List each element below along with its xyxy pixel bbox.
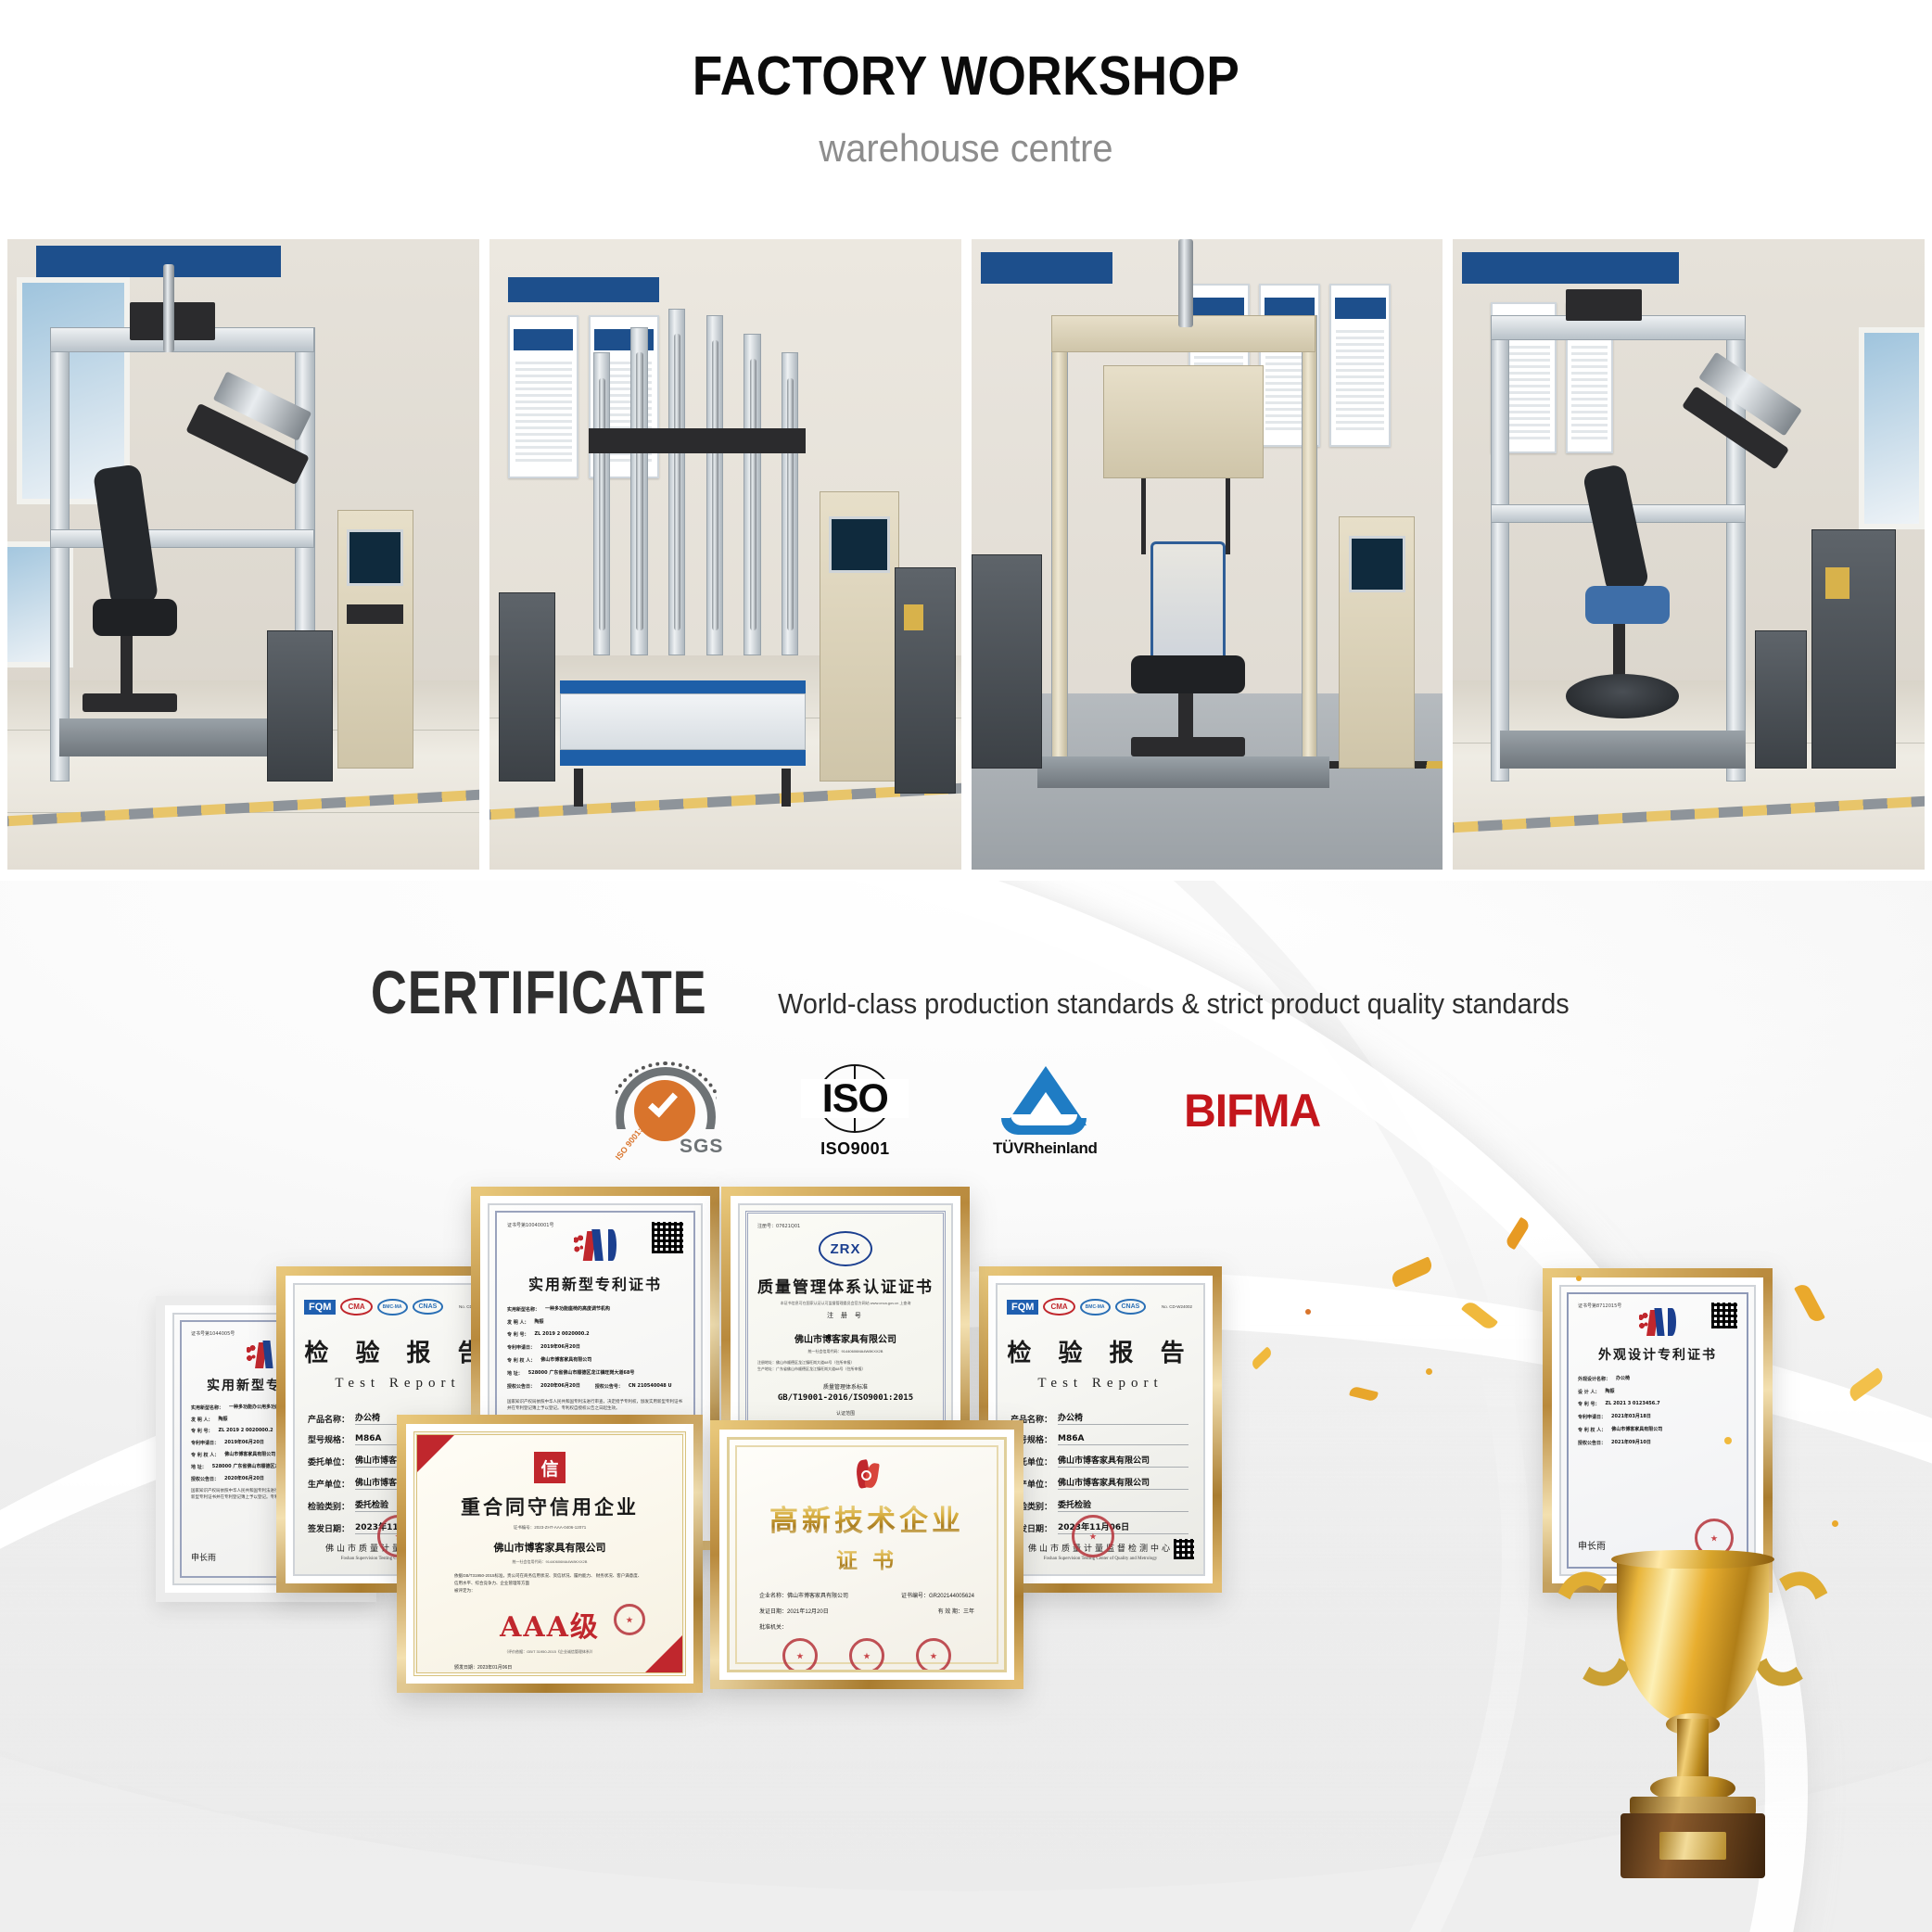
workshop-heading: FACTORY WORKSHOP warehouse centre (0, 0, 1932, 171)
field-label: 颁发日期： (454, 1665, 477, 1671)
field-value: 2020年06月20日 (540, 1382, 580, 1390)
certificate-subtitle: World-class production standards & stric… (778, 987, 1570, 1021)
field-value: 委托检验 (1058, 1498, 1188, 1512)
field-value: 佛山市博客家具有限公司 (1611, 1426, 1737, 1433)
zrx-logo: ZRX (819, 1231, 872, 1266)
page-title: FACTORY WORKSHOP (96, 44, 1836, 108)
field-value: 2023年01月06日 (477, 1665, 512, 1671)
field-label: 产品名称： (308, 1413, 350, 1425)
field-label: 型号规格： (308, 1433, 350, 1445)
confetti-ribbon (1847, 1367, 1887, 1402)
field-value: 三年 (963, 1609, 974, 1615)
field-label: 授权公告日： (191, 1476, 219, 1482)
issuer-en: Foshan Supervision Testing Center of Qua… (998, 1557, 1203, 1561)
official-stamp: ★ (782, 1638, 818, 1672)
cma-badge: CMA (1043, 1298, 1074, 1316)
field-label: 截止日期： (454, 1674, 477, 1676)
field-label: 授权公告日： (507, 1383, 535, 1390)
field-value: 2021年09月10日 (1611, 1439, 1737, 1446)
field-label: 实用新型名称： (507, 1306, 540, 1313)
field-label: 专利申请日： (1578, 1414, 1606, 1420)
confetti-ribbon (1461, 1299, 1498, 1332)
field-label: 专 利 号： (507, 1331, 528, 1338)
cma-badge: CMA (340, 1298, 372, 1316)
certificate-wall: 证书号第1044005号 实用新型专利证书 实用新型名称：一种多功能办公用多功能… (0, 1187, 1932, 1932)
hte-flame-logo (851, 1460, 883, 1490)
field-label: 专 利 权 人： (1578, 1427, 1606, 1433)
signature: 申长雨 (191, 1551, 216, 1563)
confetti-ribbon (1349, 1386, 1379, 1403)
confetti-dot (1576, 1276, 1582, 1281)
field-label: 专 利 权 人： (507, 1357, 535, 1364)
cnas-badge: CNAS (413, 1299, 444, 1315)
patent-office-logo (574, 1229, 616, 1261)
iso9001-label: ISO9001 (801, 1139, 909, 1159)
tuv-label: TÜVRheinland (986, 1139, 1103, 1158)
field-label: 有 效 期： (938, 1609, 963, 1615)
bifma-logo: BIFMA (1181, 1084, 1323, 1138)
field-value: 2019年06月20日 (540, 1343, 683, 1351)
wave-inner-icon (1010, 1114, 1077, 1125)
field-label: 专 利 号： (191, 1428, 212, 1434)
standard-value: GB/T19001-2016/ISO9001:2015 (757, 1393, 934, 1403)
field-value: 528000 广东省佛山市顺德区龙江镇旺岗大道68号 (528, 1369, 683, 1377)
field-value: CN 210540048 U (629, 1383, 683, 1390)
field-label: 设 计 人： (1578, 1389, 1599, 1395)
triangle-inner-icon (1029, 1092, 1062, 1116)
field-value: M86A (1058, 1434, 1188, 1445)
field-label: 发 明 人： (507, 1319, 528, 1326)
bifma-label: BIFMA (1184, 1084, 1320, 1138)
field-label: 专利申请日： (191, 1440, 219, 1446)
gold-trophy (1554, 1513, 1832, 1912)
field-value: 佛山市博客家具有限公司 (540, 1356, 683, 1364)
field-value: 2021年12月20日 (787, 1609, 829, 1615)
standard-label: 质量管理体系标准 (757, 1382, 934, 1391)
field-label: 批准机关： (759, 1622, 974, 1631)
certificate-subtitle-cn: 注 册 号 (757, 1311, 934, 1320)
qr-code (1174, 1539, 1194, 1559)
field-label: 授权公告日： (1578, 1440, 1606, 1446)
field-label: 授权公告号： (595, 1383, 623, 1390)
certificate-aaa-credit[interactable]: 信 重合同守信用企业 证书编号：2023-ZHT-AAA-0406-12071 … (397, 1415, 703, 1693)
official-stamp: ★ (916, 1638, 951, 1672)
field-label: 实用新型名称： (191, 1405, 223, 1411)
certificate-title-cn: 外观设计专利证书 (1578, 1345, 1737, 1364)
field-label: 专利申请日： (507, 1344, 535, 1351)
official-stamp: ★ (849, 1638, 884, 1672)
credit-seal-icon: 信 (534, 1452, 566, 1483)
qr-code (1711, 1303, 1737, 1328)
iso-label: ISO (801, 1079, 909, 1118)
trophy-cup (1617, 1556, 1769, 1724)
photo-rotary-chair-tester[interactable] (1453, 239, 1925, 870)
trophy-rim (1611, 1550, 1774, 1569)
field-value: 佛山市博客家具有限公司 (787, 1594, 848, 1599)
certificate-title-cn: 重合同守信用企业 (454, 1493, 645, 1520)
fqm-badge: FQM (304, 1300, 336, 1315)
field-label: 委托单位： (308, 1455, 350, 1468)
field-label: 生产单位： (308, 1478, 350, 1490)
sgs-label: SGS (680, 1136, 723, 1158)
field-value: GR202144005624 (929, 1594, 974, 1599)
sgs-logo: ISO 9001:2000 SGS (608, 1065, 723, 1156)
certificate-title-en: Test Report (1003, 1376, 1198, 1392)
field-label: 发 明 人： (191, 1417, 212, 1423)
certificate-title-cn: 质量管理体系认证证书 (757, 1274, 934, 1297)
certificate-title-cn: 实用新型专利证书 (507, 1272, 683, 1294)
official-stamp: ★ (614, 1604, 645, 1635)
confetti-ribbon (1504, 1217, 1531, 1251)
confetti-ribbon (1250, 1346, 1274, 1369)
certification-logo-row: ISO 9001:2000 SGS ISO ISO9001 TÜVRheinla… (0, 1064, 1932, 1157)
field-label: 检验类别： (308, 1500, 350, 1512)
certificate-title-en: Test Report (300, 1376, 495, 1392)
field-label: 签发日期： (308, 1522, 350, 1534)
cnas-badge: CNAS (1115, 1299, 1147, 1315)
factory-workshop-section: FACTORY WORKSHOP warehouse centre (0, 0, 1932, 881)
certificate-section: CERTIFICATE World-class production stand… (0, 881, 1932, 1932)
patent-office-logo (1639, 1308, 1676, 1336)
field-value: 佛山市博客家具有限公司 (1058, 1454, 1188, 1468)
tuv-rheinland-logo: TÜVRheinland (986, 1064, 1103, 1157)
report-number: No. CD-W24002 (1162, 1304, 1192, 1309)
scope-label: 认证范围 (757, 1410, 934, 1417)
confetti-dot (1724, 1437, 1732, 1444)
field-label: 地 址： (191, 1464, 207, 1470)
certificate-title-cn: 检 验 报 告 (300, 1334, 495, 1368)
bmc-badge: BMC-MA (377, 1299, 408, 1316)
field-value: 佛山市博客家具有限公司 (1058, 1476, 1188, 1490)
field-value: 一种多功能座椅的高度调节机构 (545, 1305, 683, 1313)
workshop-photo-gallery (0, 239, 1932, 870)
photo-chair-load-press[interactable] (972, 239, 1443, 870)
field-label: 专 利 号： (1578, 1401, 1599, 1407)
photo-chair-durability-tester[interactable] (7, 239, 479, 870)
field-value: 办公椅 (1058, 1411, 1188, 1425)
fqm-badge: FQM (1007, 1300, 1038, 1315)
field-label: 外观设计名称： (1578, 1376, 1610, 1382)
certificate-title-cn-2: 证 书 (759, 1543, 974, 1574)
qr-code (652, 1222, 683, 1253)
iso9001-logo: ISO ISO9001 (801, 1064, 909, 1157)
confetti-dot (1426, 1368, 1432, 1375)
field-label: 企业名称： (759, 1594, 787, 1599)
bmc-badge: BMC-MA (1080, 1299, 1111, 1316)
page-subtitle: warehouse centre (48, 126, 1884, 171)
field-label: 地 址： (507, 1370, 523, 1377)
certificate-title-cn: 高新技术企业 (759, 1497, 974, 1539)
field-value: ZL 2021 3 0123456.7 (1605, 1401, 1737, 1407)
certificate-heading: CERTIFICATE World-class production stand… (0, 881, 1932, 1027)
confetti-ribbon (1794, 1282, 1825, 1325)
field-value: 陶振 (534, 1318, 683, 1326)
field-value: 陶振 (1605, 1388, 1737, 1395)
official-stamp: ★ (1072, 1515, 1114, 1557)
confetti-ribbon (1390, 1256, 1435, 1287)
field-label: 发证日期： (759, 1609, 787, 1615)
confetti-dot (1305, 1309, 1311, 1315)
certificate-title: CERTIFICATE (370, 957, 706, 1027)
certificate-high-tech-enterprise[interactable]: 高新技术企业 证 书 企业名称：佛山市博客家具有限公司 证书编号：GR20214… (710, 1420, 1023, 1689)
trophy-stem (1677, 1719, 1709, 1782)
field-label: 专 利 权 人： (191, 1452, 219, 1458)
trophy-base-upper (1630, 1797, 1756, 1815)
field-value: 2026年01月05日 (477, 1674, 512, 1676)
field-value: ZL 2019 2 0020000.2 (534, 1331, 683, 1338)
company-name: 佛山市博客家具有限公司 (454, 1540, 645, 1555)
trophy-nameplate (1659, 1832, 1726, 1860)
certificate-paragraph: 国家知识产权局依照中华人民共和国专利法进行审查，决定授予专利权，颁发实用新型专利… (507, 1399, 683, 1413)
photo-multi-cylinder-tester[interactable] (489, 239, 961, 870)
company-name: 佛山市博客家具有限公司 (757, 1331, 934, 1345)
field-label: 证书编号： (901, 1594, 929, 1599)
field-value: 办公椅 (1616, 1375, 1737, 1382)
confetti-dot (1832, 1520, 1838, 1527)
field-value: 2021年03月18日 (1611, 1413, 1737, 1420)
certificate-title-cn: 检 验 报 告 (1003, 1334, 1198, 1368)
